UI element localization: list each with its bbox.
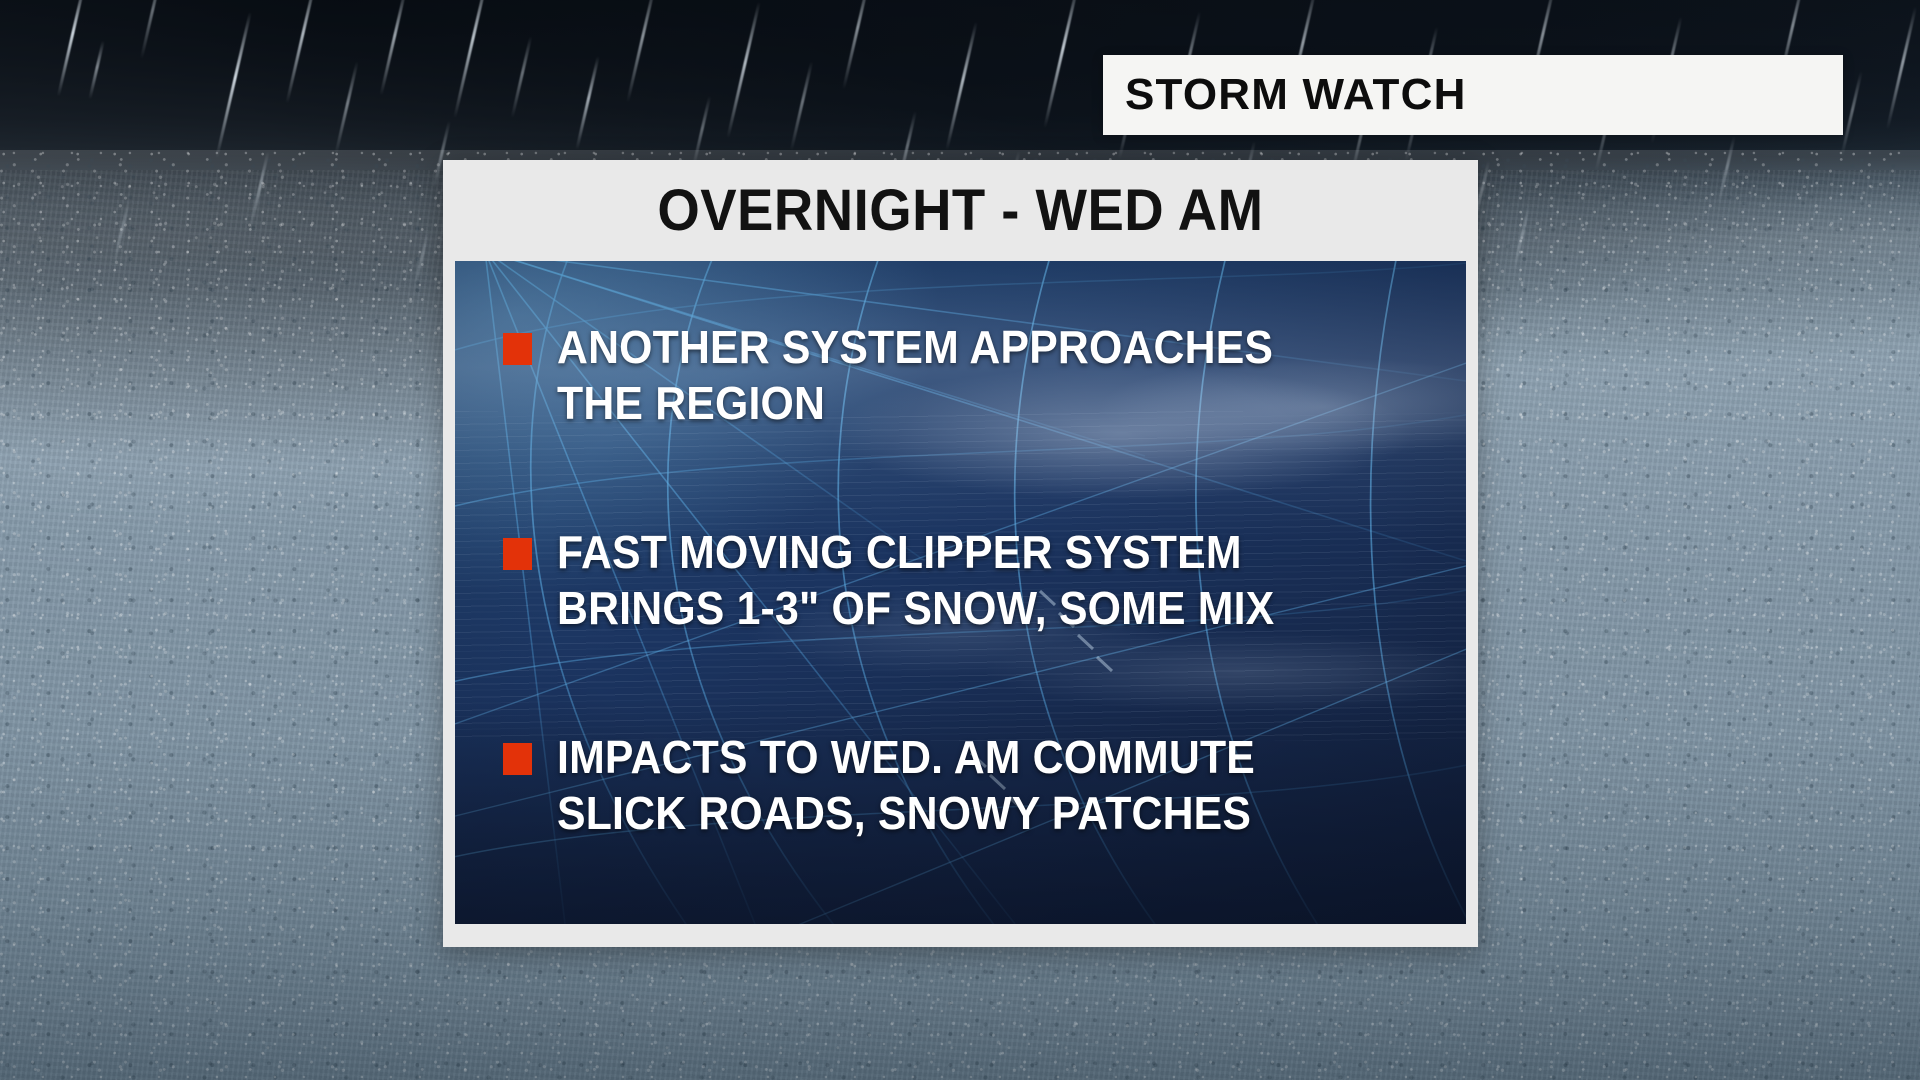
card-title: OVERNIGHT - WED AM [657, 182, 1263, 240]
storm-watch-label: STORM WATCH [1125, 73, 1467, 117]
card-header: OVERNIGHT - WED AM [443, 160, 1478, 261]
weather-graphic-slide: STORM WATCH OVERNIGHT - WED AM [0, 0, 1920, 1080]
bullet-square-icon [503, 538, 532, 570]
bullet-text: IMPACTS TO WED. AM COMMUTE SLICK ROADS, … [557, 729, 1255, 841]
list-item: ANOTHER SYSTEM APPROACHES THE REGION [503, 319, 1448, 431]
bullet-square-icon [503, 743, 532, 775]
bullet-list: ANOTHER SYSTEM APPROACHES THE REGION FAS… [455, 261, 1466, 924]
list-item: FAST MOVING CLIPPER SYSTEM BRINGS 1-3" O… [503, 524, 1448, 636]
storm-watch-banner: STORM WATCH [1103, 55, 1843, 135]
bullet-square-icon [503, 333, 532, 365]
forecast-panel: ANOTHER SYSTEM APPROACHES THE REGION FAS… [455, 261, 1466, 924]
bullet-text: FAST MOVING CLIPPER SYSTEM BRINGS 1-3" O… [557, 524, 1274, 636]
bullet-text: ANOTHER SYSTEM APPROACHES THE REGION [557, 319, 1273, 431]
list-item: IMPACTS TO WED. AM COMMUTE SLICK ROADS, … [503, 729, 1448, 841]
forecast-card: OVERNIGHT - WED AM [443, 160, 1478, 947]
